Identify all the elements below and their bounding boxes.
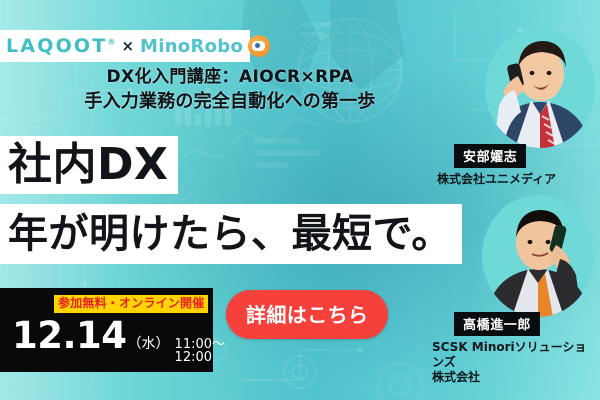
event-date-box: 参加無料・オンライン開催 12.14 （水） 11:00〜12:00	[0, 288, 213, 372]
free-online-badge: 参加無料・オンライン開催	[54, 295, 208, 313]
subtitle-line-1: DX化入門講座：AIOCR×RPA	[10, 66, 450, 89]
speaker-company-abe-line1: 株式会社ユニメディア	[437, 172, 556, 186]
laqoot-wordmark: LAQOOT	[6, 35, 107, 57]
registered-mark-icon: ®	[107, 38, 115, 47]
speaker-photo-takahashi	[482, 195, 594, 317]
logo-bar: LAQOOT® × MinoRobo	[0, 30, 250, 62]
subtitle-line-2: 手入力業務の完全自動化への第一歩	[10, 89, 450, 114]
logo-separator-x: ×	[121, 37, 134, 55]
speaker-info-takahashi: 高橋進一郎 SCSK Minoriソリューションズ 株式会社	[432, 312, 598, 385]
speaker-company-abe: 株式会社ユニメディア	[437, 172, 597, 187]
event-date-row: 12.14 （水） 11:00〜12:00	[8, 317, 205, 364]
speaker-name-takahashi: 高橋進一郎	[454, 312, 540, 336]
speaker-company-takahashi: SCSK Minoriソリューションズ 株式会社	[432, 340, 598, 385]
speaker-company-takahashi-line2: 株式会社	[432, 370, 598, 385]
event-date: 12.14	[12, 317, 127, 354]
minorobo-robot-icon	[248, 35, 270, 57]
headline-band-1: 社内DX	[0, 136, 178, 194]
subtitle-block: DX化入門講座：AIOCR×RPA 手入力業務の完全自動化への第一歩	[0, 66, 600, 114]
headline-line-2: 年が明けたら、最短で。	[8, 214, 452, 254]
event-time: 11:00〜12:00	[175, 338, 225, 364]
speaker-info-abe: 安部嬥志 株式会社ユニメディア	[437, 144, 597, 187]
details-cta-button[interactable]: 詳細はこちら	[226, 290, 388, 339]
webinar-banner: LAQOOT® × MinoRobo DX化入門講座：AIOCR×RPA 手入力…	[0, 0, 600, 400]
minorobo-wordmark: MinoRobo	[140, 36, 243, 57]
speaker-company-takahashi-line1: SCSK Minoriソリューションズ	[432, 340, 586, 369]
headline-line-1: 社内DX	[8, 143, 168, 187]
laqoot-logo: LAQOOT®	[6, 35, 115, 57]
speaker-name-abe: 安部嬥志	[454, 144, 526, 168]
event-day-of-week: （水）	[128, 337, 170, 351]
headline-band-2: 年が明けたら、最短で。	[0, 204, 462, 264]
